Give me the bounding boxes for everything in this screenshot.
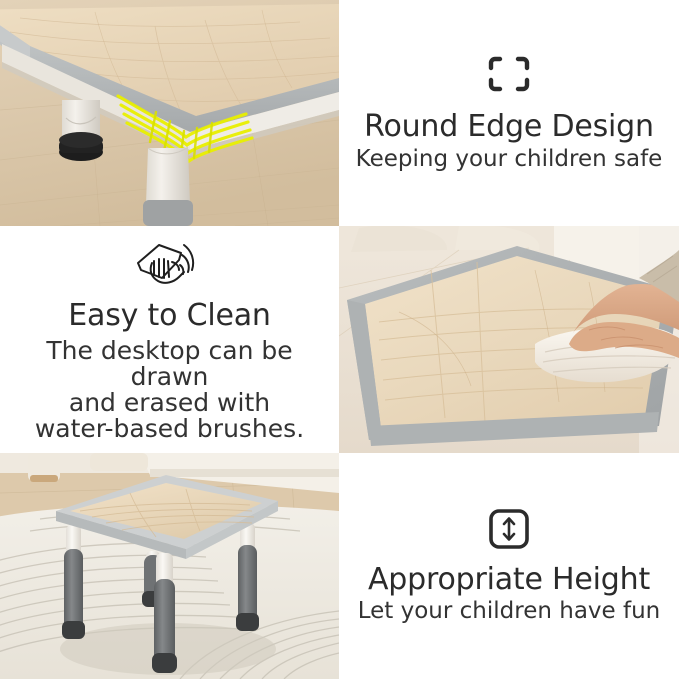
panel-title: Round Edge Design — [364, 110, 654, 144]
panel-subtitle: The desktop can be drawn and erased with… — [8, 338, 331, 442]
panel-subtitle: Let your children have fun — [358, 599, 661, 624]
panel-subtitle: Keeping your children safe — [356, 147, 663, 172]
wiping-hand-cloth-icon — [132, 237, 208, 291]
corner-brackets-icon — [487, 54, 531, 94]
round-edge-closeup-image — [0, 0, 339, 226]
round-edge-photo-panel — [0, 0, 339, 226]
panel-title: Appropriate Height — [368, 563, 650, 597]
panel-subtitle-line: water-based brushes. — [8, 416, 331, 442]
panel-subtitle-line: and erased with — [8, 390, 331, 416]
appropriate-height-photo-panel — [0, 453, 339, 679]
product-feature-collage: Round Edge Design Keeping your children … — [0, 0, 679, 679]
round-edge-text-panel: Round Edge Design Keeping your children … — [339, 0, 679, 226]
feature-grid: Round Edge Design Keeping your children … — [0, 0, 679, 679]
vertical-resize-arrow-icon — [488, 508, 530, 550]
easy-clean-photo-panel — [339, 226, 679, 453]
panel-subtitle-line: The desktop can be drawn — [8, 338, 331, 390]
panel-title: Easy to Clean — [68, 299, 270, 333]
hand-wiping-desktop-image — [339, 226, 679, 453]
appropriate-height-text-panel: Appropriate Height Let your children hav… — [339, 453, 679, 679]
easy-clean-text-panel: Easy to Clean The desktop can be drawn a… — [0, 226, 339, 453]
kids-table-on-rug-image — [0, 453, 339, 679]
